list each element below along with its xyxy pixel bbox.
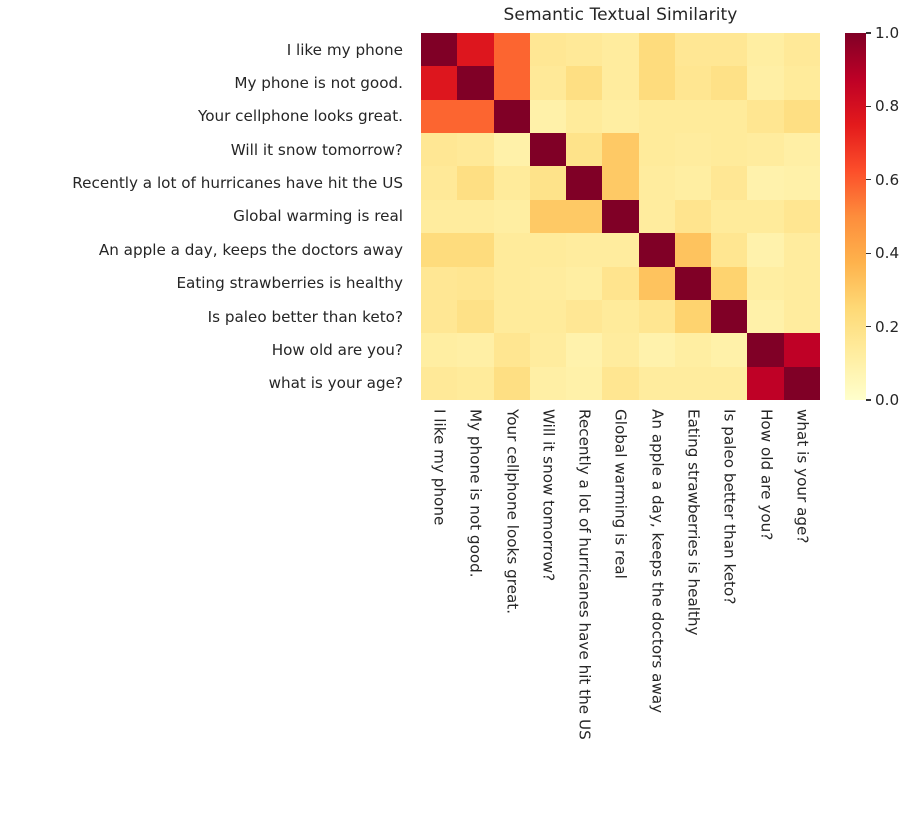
heatmap-cell xyxy=(457,133,493,166)
heatmap-cell xyxy=(421,66,457,99)
heatmap-cell xyxy=(566,367,602,400)
heatmap-cell xyxy=(530,233,566,266)
colorbar-tick-mark xyxy=(866,179,871,180)
heatmap-cell xyxy=(602,333,638,366)
heatmap-cell xyxy=(566,200,602,233)
heatmap-cell xyxy=(602,133,638,166)
heatmap-cell xyxy=(494,267,530,300)
heatmap-cell xyxy=(747,66,783,99)
y-axis-tick-labels: I like my phoneMy phone is not good.Your… xyxy=(0,33,412,400)
heatmap-cell xyxy=(602,66,638,99)
heatmap-cell xyxy=(566,333,602,366)
colorbar-tick-label: 1.0 xyxy=(875,24,899,42)
heatmap-cell xyxy=(421,233,457,266)
colorbar-tick-mark xyxy=(866,326,871,327)
heatmap-cell xyxy=(530,66,566,99)
heatmap-cell xyxy=(675,33,711,66)
heatmap-cell xyxy=(530,33,566,66)
y-tick-label: what is your age? xyxy=(0,367,412,400)
heatmap-cell xyxy=(747,200,783,233)
heatmap-cell xyxy=(711,33,747,66)
heatmap-cell xyxy=(675,267,711,300)
heatmap-cell xyxy=(421,200,457,233)
heatmap-cell xyxy=(566,166,602,199)
heatmap-cell xyxy=(639,267,675,300)
heatmap-cell xyxy=(457,333,493,366)
heatmap-cell xyxy=(457,233,493,266)
y-tick-label: My phone is not good. xyxy=(0,66,412,99)
page-title: Semantic Textual Similarity xyxy=(421,5,820,25)
heatmap-cell xyxy=(639,166,675,199)
heatmap-cell xyxy=(457,300,493,333)
heatmap-cell xyxy=(530,166,566,199)
heatmap-cell xyxy=(530,100,566,133)
x-tick-slot: Recently a lot of hurricanes have hit th… xyxy=(566,400,602,820)
heatmap-grid xyxy=(421,33,820,400)
y-tick-label: Your cellphone looks great. xyxy=(0,100,412,133)
y-tick-label: An apple a day, keeps the doctors away xyxy=(0,233,412,266)
y-tick-label: Eating strawberries is healthy xyxy=(0,267,412,300)
x-tick-label: Your cellphone looks great. xyxy=(504,409,519,614)
heatmap-cell xyxy=(639,33,675,66)
heatmap-cell xyxy=(747,267,783,300)
heatmap-cell xyxy=(530,267,566,300)
heatmap-cell xyxy=(421,300,457,333)
heatmap-cell xyxy=(457,33,493,66)
heatmap-cell xyxy=(566,66,602,99)
heatmap-cell xyxy=(784,333,820,366)
heatmap-cell xyxy=(602,100,638,133)
x-tick-label: Global warming is real xyxy=(613,409,628,579)
heatmap-cell xyxy=(494,166,530,199)
heatmap-cell xyxy=(421,166,457,199)
heatmap-cell xyxy=(675,133,711,166)
heatmap-cell xyxy=(566,33,602,66)
heatmap-cell xyxy=(530,300,566,333)
heatmap-cell xyxy=(457,200,493,233)
x-axis-tick-labels: I like my phoneMy phone is not good.Your… xyxy=(421,400,820,820)
x-tick-slot: How old are you? xyxy=(747,400,783,820)
colorbar-tick-label: 0.2 xyxy=(875,318,899,336)
heatmap-cell xyxy=(639,66,675,99)
heatmap-cell xyxy=(711,300,747,333)
y-tick-label: Recently a lot of hurricanes have hit th… xyxy=(0,166,412,199)
heatmap-cell xyxy=(747,233,783,266)
y-tick-label: Will it snow tomorrow? xyxy=(0,133,412,166)
heatmap-cell xyxy=(457,367,493,400)
heatmap-figure: Semantic Textual Similarity I like my ph… xyxy=(0,0,915,826)
heatmap-cell xyxy=(747,367,783,400)
colorbar-tick-mark xyxy=(866,106,871,107)
heatmap-cell xyxy=(784,233,820,266)
heatmap-cell xyxy=(675,100,711,133)
heatmap-cell xyxy=(784,166,820,199)
x-tick-slot: Your cellphone looks great. xyxy=(494,400,530,820)
heatmap-cell xyxy=(711,233,747,266)
heatmap-cell xyxy=(711,66,747,99)
x-tick-label: I like my phone xyxy=(432,409,447,525)
heatmap-cell xyxy=(675,300,711,333)
heatmap-cell xyxy=(784,300,820,333)
colorbar-tick-label: 0.6 xyxy=(875,171,899,189)
heatmap-cell xyxy=(711,133,747,166)
heatmap-cell xyxy=(421,100,457,133)
heatmap-cell xyxy=(639,100,675,133)
x-tick-slot: what is your age? xyxy=(784,400,820,820)
heatmap-cell xyxy=(494,367,530,400)
heatmap-cell xyxy=(747,166,783,199)
heatmap-cell xyxy=(494,333,530,366)
x-tick-label: Is paleo better than keto? xyxy=(722,409,737,604)
heatmap-cell xyxy=(566,100,602,133)
heatmap-cell xyxy=(494,66,530,99)
heatmap-cell xyxy=(566,233,602,266)
heatmap-cell xyxy=(675,66,711,99)
heatmap-cell xyxy=(602,267,638,300)
heatmap-cell xyxy=(784,133,820,166)
heatmap-cell xyxy=(784,33,820,66)
heatmap-cell xyxy=(711,100,747,133)
heatmap-cell xyxy=(675,166,711,199)
heatmap-cell xyxy=(566,133,602,166)
heatmap-cell xyxy=(639,133,675,166)
heatmap-cell xyxy=(639,300,675,333)
heatmap-cell xyxy=(421,267,457,300)
heatmap-cell xyxy=(602,166,638,199)
heatmap-cell xyxy=(711,267,747,300)
heatmap-cell xyxy=(530,367,566,400)
heatmap-cell xyxy=(747,333,783,366)
x-tick-label: An apple a day, keeps the doctors away xyxy=(649,409,664,713)
heatmap-cell xyxy=(784,100,820,133)
heatmap-cell xyxy=(747,33,783,66)
heatmap-cell xyxy=(421,333,457,366)
colorbar-tick-mark xyxy=(866,399,871,400)
y-tick-label: I like my phone xyxy=(0,33,412,66)
heatmap-cell xyxy=(711,367,747,400)
x-tick-slot: Eating strawberries is healthy xyxy=(675,400,711,820)
heatmap-cell xyxy=(747,100,783,133)
heatmap-cell xyxy=(457,166,493,199)
y-tick-label: How old are you? xyxy=(0,333,412,366)
heatmap-cell xyxy=(457,267,493,300)
heatmap-cell xyxy=(566,300,602,333)
x-tick-slot: My phone is not good. xyxy=(457,400,493,820)
heatmap-cell xyxy=(530,200,566,233)
heatmap-cell xyxy=(494,100,530,133)
heatmap-cell xyxy=(747,300,783,333)
heatmap-cell xyxy=(602,33,638,66)
heatmap-cell xyxy=(494,300,530,333)
x-tick-slot: An apple a day, keeps the doctors away xyxy=(639,400,675,820)
heatmap-cell xyxy=(784,200,820,233)
heatmap-cell xyxy=(711,200,747,233)
heatmap-cell xyxy=(530,133,566,166)
colorbar-tick-label: 0.8 xyxy=(875,97,899,115)
x-tick-label: How old are you? xyxy=(758,409,773,540)
heatmap-cell xyxy=(784,367,820,400)
heatmap-cell xyxy=(530,333,566,366)
x-tick-slot: I like my phone xyxy=(421,400,457,820)
heatmap-cell xyxy=(602,200,638,233)
heatmap-cell xyxy=(494,233,530,266)
heatmap-cell xyxy=(675,233,711,266)
x-tick-label: My phone is not good. xyxy=(468,409,483,578)
x-tick-label: Will it snow tomorrow? xyxy=(540,409,555,581)
heatmap-cell xyxy=(494,133,530,166)
x-tick-slot: Will it snow tomorrow? xyxy=(530,400,566,820)
colorbar-tick-mark xyxy=(866,32,871,33)
heatmap-cell xyxy=(494,33,530,66)
heatmap-cell xyxy=(747,133,783,166)
x-tick-label: Eating strawberries is healthy xyxy=(685,409,700,636)
heatmap-cell xyxy=(639,200,675,233)
heatmap-cell xyxy=(494,200,530,233)
heatmap-cell xyxy=(421,133,457,166)
heatmap-cell xyxy=(421,367,457,400)
heatmap-cell xyxy=(602,367,638,400)
heatmap-cell xyxy=(602,233,638,266)
heatmap-cell xyxy=(457,66,493,99)
x-tick-label: what is your age? xyxy=(794,409,809,543)
heatmap-cell xyxy=(639,233,675,266)
heatmap-cell xyxy=(639,333,675,366)
heatmap-cell xyxy=(711,333,747,366)
heatmap-cell xyxy=(602,300,638,333)
y-tick-label: Global warming is real xyxy=(0,200,412,233)
heatmap-cell xyxy=(457,100,493,133)
x-tick-slot: Is paleo better than keto? xyxy=(711,400,747,820)
heatmap-cell xyxy=(421,33,457,66)
heatmap-cell xyxy=(784,66,820,99)
colorbar-gradient xyxy=(845,33,866,400)
colorbar-tick-label: 0.0 xyxy=(875,391,899,409)
x-tick-label: Recently a lot of hurricanes have hit th… xyxy=(577,409,592,740)
heatmap-cell xyxy=(675,200,711,233)
colorbar: 1.00.80.60.40.20.0 xyxy=(845,33,915,400)
colorbar-tick-label: 0.4 xyxy=(875,244,899,262)
heatmap-cell xyxy=(566,267,602,300)
colorbar-tick-mark xyxy=(866,253,871,254)
heatmap-cell xyxy=(675,367,711,400)
heatmap-cell xyxy=(711,166,747,199)
y-tick-label: Is paleo better than keto? xyxy=(0,300,412,333)
heatmap-cell xyxy=(639,367,675,400)
heatmap-cell xyxy=(675,333,711,366)
x-tick-slot: Global warming is real xyxy=(602,400,638,820)
heatmap-cell xyxy=(784,267,820,300)
